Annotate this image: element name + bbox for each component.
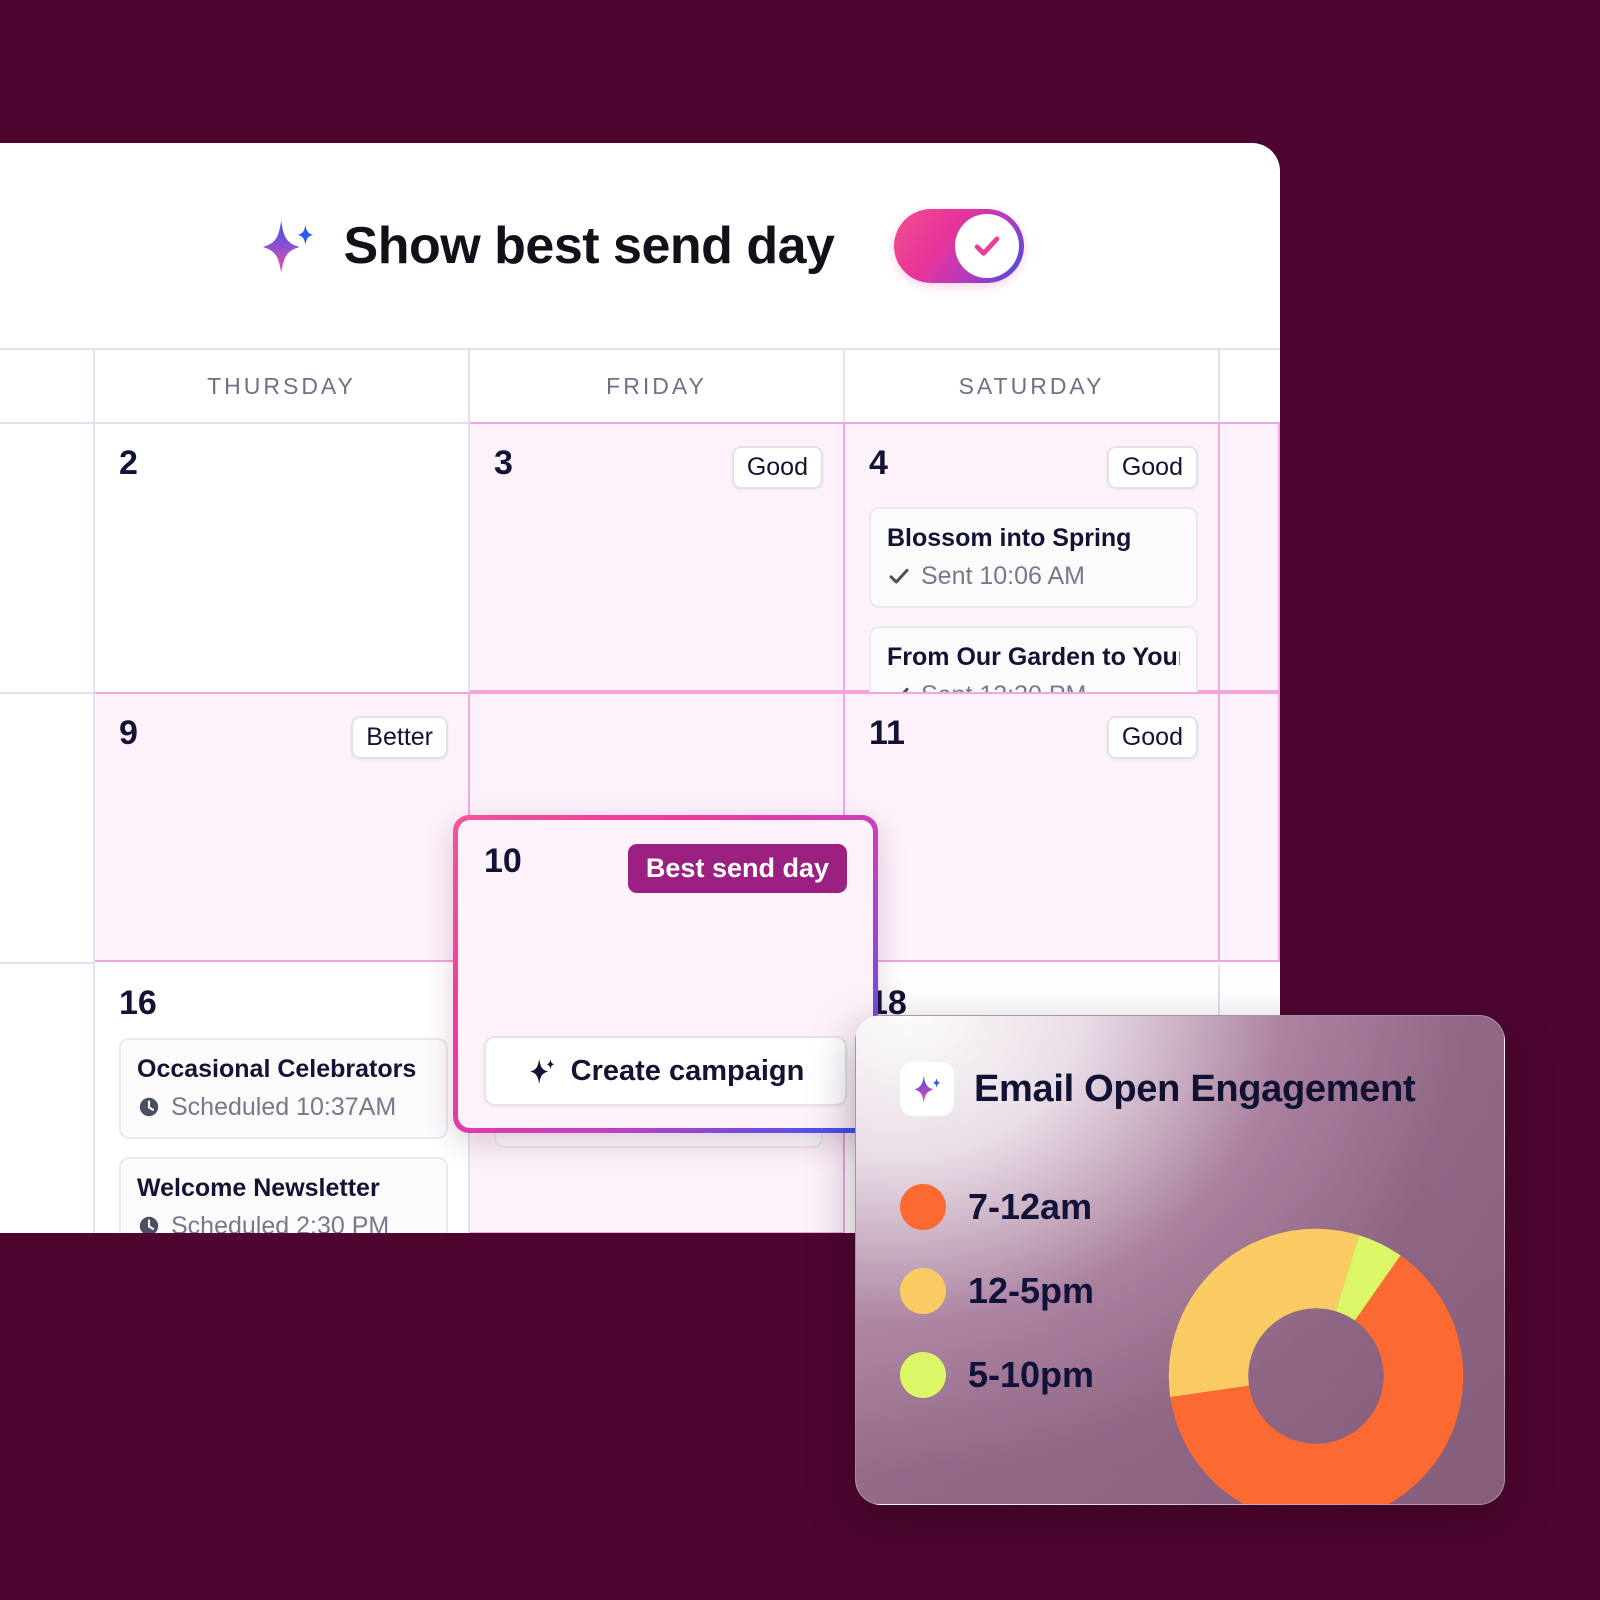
rank-badge: Good [1107, 446, 1198, 489]
page-title: Show best send day [344, 216, 835, 276]
event-status: Sent 10:06 AM [887, 561, 1180, 591]
calendar-day-cell[interactable] [1220, 422, 1280, 692]
legend-color-swatch [900, 1352, 946, 1398]
event-title: Welcome Newsletter [137, 1173, 430, 1203]
day-number: 3 [494, 446, 513, 480]
calendar-row: 2 3 Good 4 Good Blossom into Spring Sent [0, 424, 1280, 694]
calendar-day-cell[interactable] [0, 424, 95, 694]
event-card[interactable]: Blossom into Spring Sent 10:06 AM [869, 507, 1198, 608]
legend-color-swatch [900, 1184, 946, 1230]
legend-label: 7-12am [968, 1186, 1092, 1228]
chart-legend: 7-12am 12-5pm 5-10pm [900, 1184, 1094, 1398]
legend-label: 5-10pm [968, 1354, 1094, 1396]
calendar-day-cell[interactable] [1220, 692, 1280, 962]
day-number: 9 [119, 716, 138, 750]
engagement-card-title: Email Open Engagement [974, 1068, 1415, 1111]
calendar-day-cell-2[interactable]: 2 [95, 424, 470, 694]
event-status: Scheduled 2:30 PM [137, 1211, 430, 1233]
donut-chart [1156, 1216, 1476, 1505]
calendar-column-header [0, 350, 95, 422]
event-card[interactable]: Occasional Celebrators Scheduled 10:37AM [119, 1038, 448, 1139]
calendar-header-row: THURSDAY FRIDAY SATURDAY [0, 348, 1280, 424]
engagement-card-header: Email Open Engagement [856, 1016, 1504, 1116]
event-title: Occasional Celebrators [137, 1054, 430, 1084]
rank-badge: Good [732, 446, 823, 489]
calendar-day-cell-3[interactable]: 3 Good [470, 422, 845, 692]
calendar-column-header-saturday: SATURDAY [845, 350, 1220, 422]
best-send-day-badge: Best send day [628, 844, 847, 893]
legend-item-0: 7-12am [900, 1184, 1094, 1230]
calendar-column-header-friday: FRIDAY [470, 350, 845, 422]
calendar-day-cell[interactable] [0, 694, 95, 964]
calendar-day-cell-9[interactable]: 9 Better [95, 692, 470, 962]
toggle-knob [955, 214, 1019, 278]
check-icon [970, 229, 1004, 263]
sparkle-icon [256, 215, 318, 277]
event-title: From Our Garden to Your H... [887, 642, 1180, 672]
calendar-column-header [1220, 350, 1280, 422]
calendar-day-cell-11[interactable]: 11 Good [845, 692, 1220, 962]
event-title: Blossom into Spring [887, 523, 1180, 553]
day-number: 11 [869, 716, 905, 750]
create-campaign-label: Create campaign [571, 1055, 805, 1088]
legend-label: 12-5pm [968, 1270, 1094, 1312]
legend-item-1: 12-5pm [900, 1268, 1094, 1314]
event-status-label: Sent 10:06 AM [921, 561, 1085, 591]
calendar-day-cell-16[interactable]: 16 Occasional Celebrators Scheduled 10:3… [95, 964, 470, 1233]
event-status-label: Scheduled 10:37AM [171, 1092, 396, 1122]
popup-header: 10 Best send day [484, 844, 847, 893]
create-campaign-button[interactable]: Create campaign [484, 1036, 847, 1106]
calendar-column-header-thursday: THURSDAY [95, 350, 470, 422]
rank-badge: Better [351, 716, 448, 759]
day-number: 16 [119, 986, 157, 1020]
best-send-day-popup[interactable]: 10 Best send day Create campaign [453, 815, 878, 1133]
clock-icon [137, 1095, 161, 1119]
day-number: 10 [484, 844, 522, 878]
check-icon [887, 564, 911, 588]
day-number: 2 [119, 446, 138, 480]
rank-badge: Good [1107, 716, 1198, 759]
sparkle-icon [900, 1062, 954, 1116]
email-open-engagement-card: Email Open Engagement 7-12am 12-5pm 5-10… [855, 1015, 1505, 1505]
show-best-send-day-toggle[interactable] [894, 209, 1024, 283]
event-card[interactable]: Welcome Newsletter Scheduled 2:30 PM [119, 1157, 448, 1233]
legend-item-2: 5-10pm [900, 1352, 1094, 1398]
calendar-day-cell-4[interactable]: 4 Good Blossom into Spring Sent 10:06 AM… [845, 422, 1220, 692]
best-send-day-popup-body: 10 Best send day Create campaign [458, 820, 873, 1128]
sparkle-icon [527, 1056, 557, 1086]
day-number: 4 [869, 446, 888, 480]
legend-color-swatch [900, 1268, 946, 1314]
event-status-label: Scheduled 2:30 PM [171, 1211, 389, 1233]
calendar-day-cell[interactable] [0, 964, 95, 1233]
app-header: Show best send day [0, 143, 1280, 348]
donut-slice-12-5pm [1169, 1229, 1359, 1397]
clock-icon [137, 1214, 161, 1233]
event-status: Scheduled 10:37AM [137, 1092, 430, 1122]
